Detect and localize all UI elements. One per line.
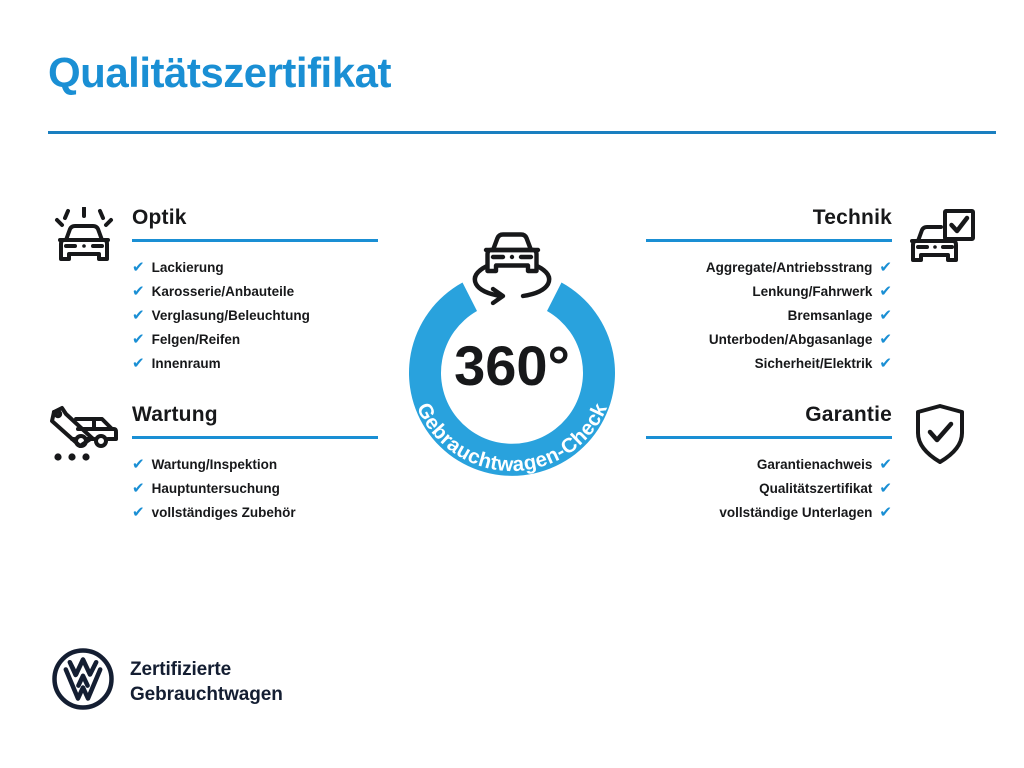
list-item: ✔ Wartung/Inspektion bbox=[132, 453, 378, 477]
section-optik-body: Optik ✔ Lackierung ✔ Karosserie/Anbautei… bbox=[132, 203, 378, 376]
check-icon: ✔ bbox=[879, 457, 892, 472]
checklist-garantie: Garantienachweis ✔ Qualitätszertifikat ✔… bbox=[646, 453, 892, 525]
list-item: ✔ Felgen/Reifen bbox=[132, 328, 378, 352]
section-rule-wartung bbox=[132, 436, 378, 439]
check-icon: ✔ bbox=[132, 260, 145, 275]
list-item-label: Aggregate/Antriebsstrang bbox=[706, 256, 873, 280]
list-item-label: Unterboden/Abgasanlage bbox=[709, 328, 873, 352]
list-item-label: Bremsanlage bbox=[788, 304, 873, 328]
list-item-label: Lackierung bbox=[152, 256, 224, 280]
list-item-label: Sicherheit/Elektrik bbox=[755, 352, 873, 376]
section-heading-wartung: Wartung bbox=[132, 400, 378, 430]
car-front-rotate-icon bbox=[475, 235, 549, 304]
check-icon: ✔ bbox=[879, 505, 892, 520]
list-item: Unterboden/Abgasanlage ✔ bbox=[646, 328, 892, 352]
car-shine-icon bbox=[46, 203, 122, 271]
list-item-label: Hauptuntersuchung bbox=[152, 477, 280, 501]
list-item: Qualitätszertifikat ✔ bbox=[646, 477, 892, 501]
list-item-label: Innenraum bbox=[152, 352, 221, 376]
check-icon: ✔ bbox=[879, 356, 892, 371]
check-icon: ✔ bbox=[132, 284, 145, 299]
check-icon: ✔ bbox=[879, 284, 892, 299]
badge-center-label: 360° bbox=[454, 334, 570, 397]
check-icon: ✔ bbox=[132, 356, 145, 371]
list-item: ✔ Karosserie/Anbauteile bbox=[132, 280, 378, 304]
list-item-label: Verglasung/Beleuchtung bbox=[152, 304, 310, 328]
check-icon: ✔ bbox=[132, 332, 145, 347]
shield-check-icon bbox=[902, 400, 978, 468]
list-item: Lenkung/Fahrwerk ✔ bbox=[646, 280, 892, 304]
footer-line-1: Zertifizierte bbox=[130, 657, 283, 682]
list-item: Sicherheit/Elektrik ✔ bbox=[646, 352, 892, 376]
list-item-label: Karosserie/Anbauteile bbox=[152, 280, 295, 304]
check-icon: ✔ bbox=[132, 308, 145, 323]
list-item: ✔ Hauptuntersuchung bbox=[132, 477, 378, 501]
list-item: vollständige Unterlagen ✔ bbox=[646, 501, 892, 525]
section-heading-optik: Optik bbox=[132, 203, 378, 233]
check-icon: ✔ bbox=[879, 260, 892, 275]
quality-certificate-page: Qualitätszertifikat bbox=[0, 0, 1024, 768]
footer-line-2: Gebrauchtwagen bbox=[130, 682, 283, 707]
list-item: ✔ Verglasung/Beleuchtung bbox=[132, 304, 378, 328]
list-item-label: vollständige Unterlagen bbox=[719, 501, 872, 525]
check-icon: ✔ bbox=[132, 481, 145, 496]
check-icon: ✔ bbox=[879, 332, 892, 347]
car-checkbox-icon bbox=[902, 203, 978, 271]
section-heading-technik: Technik bbox=[646, 203, 892, 233]
vw-logo-icon bbox=[52, 648, 114, 715]
title-divider bbox=[48, 131, 996, 134]
checklist-technik: Aggregate/Antriebsstrang ✔ Lenkung/Fahrw… bbox=[646, 256, 892, 376]
page-title: Qualitätszertifikat bbox=[48, 52, 391, 94]
checklist-optik: ✔ Lackierung ✔ Karosserie/Anbauteile ✔ V… bbox=[132, 256, 378, 376]
section-technik-body: Technik Aggregate/Antriebsstrang ✔ Lenku… bbox=[646, 203, 892, 376]
check-icon: ✔ bbox=[132, 457, 145, 472]
section-garantie-body: Garantie Garantienachweis ✔ Qualitätszer… bbox=[646, 400, 892, 525]
section-rule-optik bbox=[132, 239, 378, 242]
list-item: Garantienachweis ✔ bbox=[646, 453, 892, 477]
section-wartung-body: Wartung ✔ Wartung/Inspektion ✔ Hauptunte… bbox=[132, 400, 378, 525]
list-item-label: Felgen/Reifen bbox=[152, 328, 241, 352]
section-rule-technik bbox=[646, 239, 892, 242]
check-icon: ✔ bbox=[879, 308, 892, 323]
list-item-label: Garantienachweis bbox=[757, 453, 873, 477]
list-item-label: Qualitätszertifikat bbox=[759, 477, 872, 501]
list-item: Aggregate/Antriebsstrang ✔ bbox=[646, 256, 892, 280]
list-item: ✔ Lackierung bbox=[132, 256, 378, 280]
check-icon: ✔ bbox=[132, 505, 145, 520]
list-item-label: Lenkung/Fahrwerk bbox=[752, 280, 872, 304]
checklist-wartung: ✔ Wartung/Inspektion ✔ Hauptuntersuchung… bbox=[132, 453, 378, 525]
list-item: Bremsanlage ✔ bbox=[646, 304, 892, 328]
wrench-car-service-icon bbox=[46, 400, 122, 468]
badge-360-gebrauchtwagen-check: 360° Gebrauchtwagen-Check bbox=[375, 200, 649, 490]
list-item-label: vollständiges Zubehör bbox=[152, 501, 296, 525]
section-rule-garantie bbox=[646, 436, 892, 439]
footer-brand: Zertifizierte Gebrauchtwagen bbox=[52, 648, 283, 715]
list-item: ✔ vollständiges Zubehör bbox=[132, 501, 378, 525]
footer-brand-text: Zertifizierte Gebrauchtwagen bbox=[130, 657, 283, 707]
list-item: ✔ Innenraum bbox=[132, 352, 378, 376]
section-heading-garantie: Garantie bbox=[646, 400, 892, 430]
list-item-label: Wartung/Inspektion bbox=[152, 453, 278, 477]
check-icon: ✔ bbox=[879, 481, 892, 496]
